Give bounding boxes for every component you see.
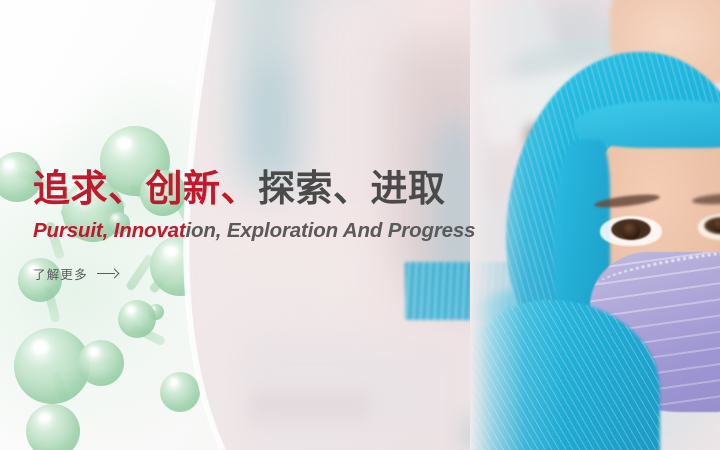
hero-banner: 追求、创新、探索、进取 Pursuit, Innovation, Explora… (0, 0, 720, 450)
page-subtitle: Pursuit, Innovation, Exploration And Pro… (33, 218, 653, 244)
headline-dark-segment: 探索、进取 (258, 168, 446, 209)
molecule-atom (160, 372, 200, 412)
arrow-right-icon (97, 269, 119, 279)
molecule-atom (118, 300, 156, 338)
molecule-atom (26, 404, 80, 450)
learn-more-button[interactable]: 了解更多 (33, 264, 119, 283)
subtitle-dark-segment: ion, Exploration And Progress (186, 219, 476, 242)
headline-red-segment: 追求、创新、 (33, 168, 258, 209)
hero-content: 追求、创新、探索、进取 Pursuit, Innovation, Explora… (33, 166, 653, 284)
subtitle-red-segment: Pursuit, Innovat (33, 219, 186, 242)
page-title: 追求、创新、探索、进取 (33, 166, 653, 212)
learn-more-label: 了解更多 (33, 264, 88, 283)
molecule-atom (78, 340, 124, 386)
